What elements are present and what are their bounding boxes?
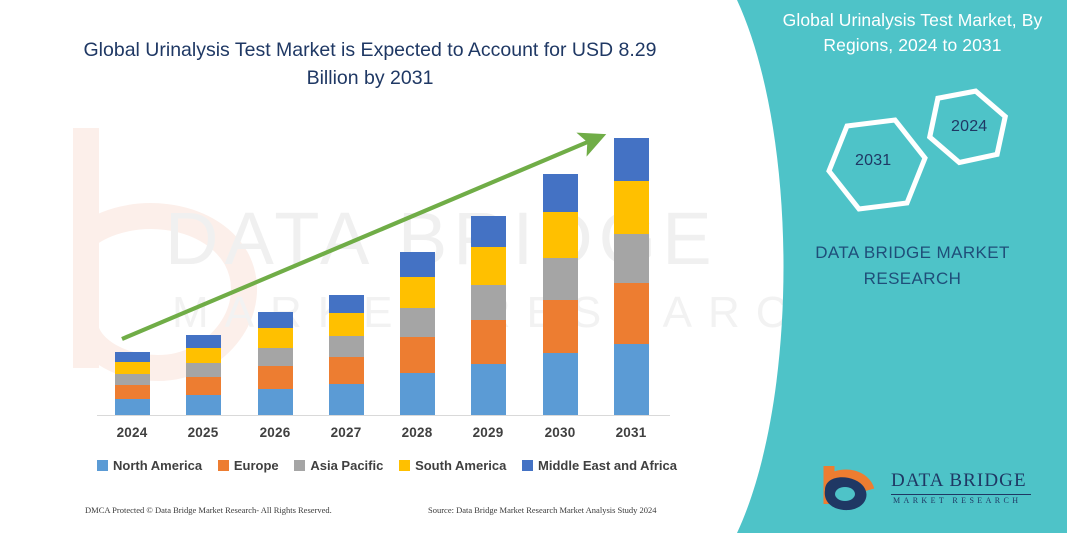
- bar-segment: [258, 312, 293, 328]
- legend-item[interactable]: North America: [97, 458, 202, 473]
- infographic-canvas: DATA BRIDGE MARKET RESEARCH Global Urina…: [0, 0, 1067, 533]
- bar-segment: [258, 328, 293, 348]
- bar-segment: [258, 348, 293, 366]
- bar-segment: [543, 174, 578, 212]
- bar-segment: [186, 363, 221, 377]
- logo-divider: [891, 494, 1031, 495]
- bar-2024: [115, 352, 150, 415]
- bar-segment: [329, 357, 364, 384]
- legend-label: North America: [113, 458, 202, 473]
- legend-swatch-icon: [218, 460, 229, 471]
- bar-segment: [186, 395, 221, 415]
- bar-2029: [471, 216, 506, 415]
- logo-tagline: MARKET RESEARCH: [893, 496, 1021, 505]
- brand-name: DATA BRIDGE MARKET RESEARCH: [765, 240, 1060, 291]
- legend-swatch-icon: [97, 460, 108, 471]
- footer-copyright: DMCA Protected © Data Bridge Market Rese…: [85, 505, 332, 515]
- legend-swatch-icon: [522, 460, 533, 471]
- bar-segment: [614, 283, 649, 344]
- bar-segment: [400, 373, 435, 415]
- legend-swatch-icon: [294, 460, 305, 471]
- bar-segment: [329, 313, 364, 336]
- bar-segment: [186, 348, 221, 363]
- bar-2025: [186, 335, 221, 415]
- x-axis-labels: 20242025202620272028202920302031: [0, 425, 700, 447]
- bar-segment: [186, 377, 221, 395]
- x-axis-line: [97, 415, 670, 416]
- bar-segment: [115, 385, 150, 399]
- bar-segment: [614, 234, 649, 283]
- bar-segment: [471, 247, 506, 285]
- logo-wordmark: DATA BRIDGE: [891, 470, 1027, 492]
- bar-segment: [471, 216, 506, 247]
- x-axis-label-2028: 2028: [382, 425, 452, 440]
- bar-2028: [400, 252, 435, 415]
- bar-segment: [258, 366, 293, 389]
- hexagon-badges: 2024 2031: [747, 88, 1067, 218]
- bar-segment: [543, 212, 578, 258]
- bar-2027: [329, 295, 364, 415]
- x-axis-label-2024: 2024: [97, 425, 167, 440]
- chart-plot-area: [0, 0, 700, 470]
- bar-segment: [400, 337, 435, 373]
- bar-segment: [115, 352, 150, 362]
- bar-segment: [471, 285, 506, 320]
- bar-segment: [614, 181, 649, 234]
- bar-segment: [115, 399, 150, 415]
- footer-source: Source: Data Bridge Market Research Mark…: [428, 505, 657, 515]
- hexagon-label-2031: 2031: [855, 152, 891, 170]
- x-axis-label-2025: 2025: [168, 425, 238, 440]
- bar-segment: [543, 258, 578, 300]
- legend-label: Middle East and Africa: [538, 458, 677, 473]
- bar-2030: [543, 174, 578, 415]
- panel-title: Global Urinalysis Test Market, By Region…: [765, 8, 1060, 59]
- bar-segment: [614, 344, 649, 415]
- legend-swatch-icon: [399, 460, 410, 471]
- teal-panel-content: Global Urinalysis Test Market, By Region…: [687, 0, 1067, 533]
- legend-item[interactable]: Europe: [218, 458, 279, 473]
- legend-item[interactable]: Middle East and Africa: [522, 458, 677, 473]
- x-axis-label-2030: 2030: [525, 425, 595, 440]
- company-logo: DATA BRIDGE MARKET RESEARCH: [815, 462, 1040, 520]
- bar-2026: [258, 312, 293, 415]
- bar-segment: [186, 335, 221, 348]
- x-axis-label-2026: 2026: [240, 425, 310, 440]
- bar-segment: [543, 300, 578, 353]
- x-axis-label-2027: 2027: [311, 425, 381, 440]
- legend-item[interactable]: Asia Pacific: [294, 458, 383, 473]
- legend-label: South America: [415, 458, 506, 473]
- bar-segment: [329, 336, 364, 357]
- bar-segment: [400, 308, 435, 337]
- footer: DMCA Protected © Data Bridge Market Rese…: [0, 505, 700, 527]
- bar-segment: [400, 277, 435, 308]
- x-axis-label-2031: 2031: [596, 425, 666, 440]
- bar-segment: [329, 295, 364, 313]
- bar-segment: [115, 362, 150, 374]
- bar-segment: [614, 138, 649, 181]
- bar-segment: [400, 252, 435, 277]
- hexagon-label-2024: 2024: [951, 118, 987, 136]
- bar-segment: [471, 320, 506, 364]
- chart-legend: North AmericaEuropeAsia PacificSouth Ame…: [97, 455, 677, 475]
- bar-segment: [471, 364, 506, 415]
- x-axis-label-2029: 2029: [453, 425, 523, 440]
- bar-segment: [329, 384, 364, 415]
- bar-2031: [614, 138, 649, 415]
- legend-label: Europe: [234, 458, 279, 473]
- legend-label: Asia Pacific: [310, 458, 383, 473]
- legend-item[interactable]: South America: [399, 458, 506, 473]
- bar-segment: [258, 389, 293, 415]
- bar-segment: [115, 374, 150, 385]
- bar-segment: [543, 353, 578, 415]
